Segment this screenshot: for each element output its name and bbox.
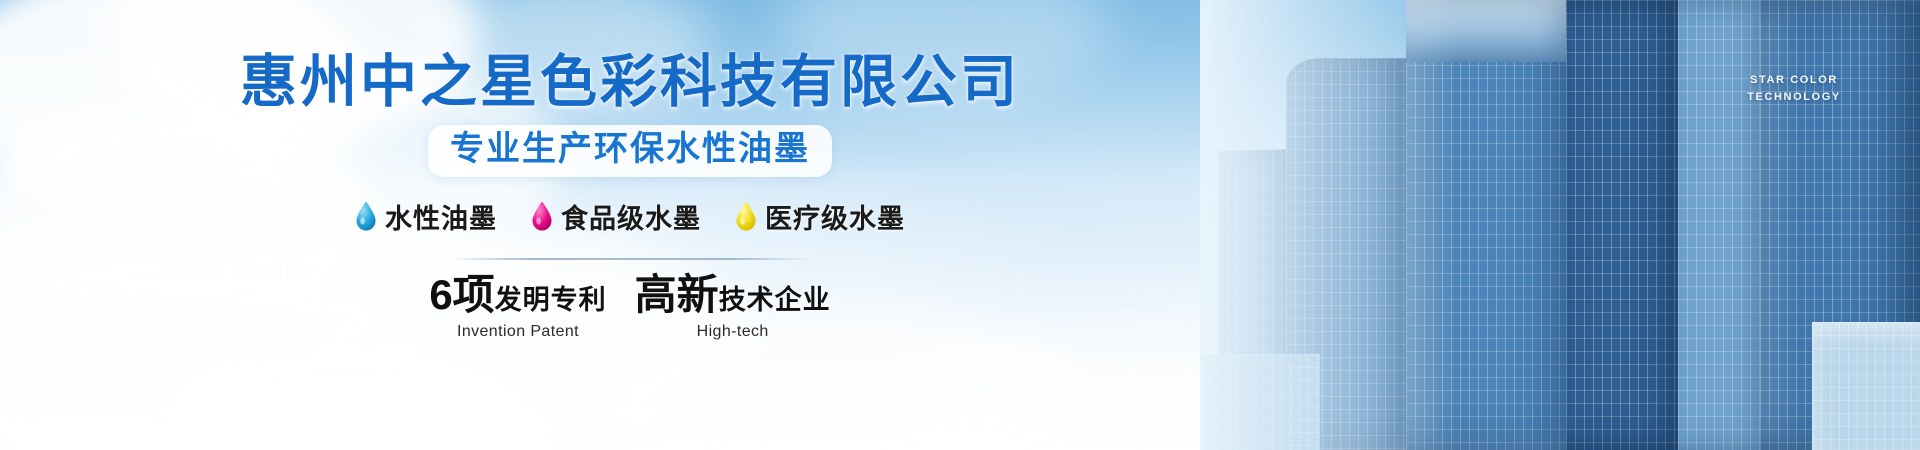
badge-main-text: 高新 技术企业 [635, 274, 831, 316]
product-tag-label: 医疗级水墨 [765, 197, 905, 236]
subtitle-pill: 专业生产环保水性油墨 [428, 125, 832, 177]
badge-count: 高新 [635, 274, 719, 316]
product-tag-water-based-ink[interactable]: 水性油墨 [355, 197, 497, 236]
badge-label: 技术企业 [719, 287, 831, 314]
badge-high-tech-enterprise: 高新 技术企业 High-tech [635, 274, 831, 341]
company-title: 惠州中之星色彩科技有限公司 [240, 54, 1020, 111]
badge-label: 发明专利 [495, 287, 607, 314]
building-podium [1812, 322, 1920, 450]
badge-english-label: Invention Patent [457, 323, 579, 341]
product-tag-list: 水性油墨 食品级水墨 [355, 197, 905, 236]
product-tag-medical-grade-ink[interactable]: 医疗级水墨 [735, 197, 905, 236]
product-tag-label: 食品级水墨 [561, 197, 701, 236]
corner-brand-line2: TECHNOLOGY [1734, 89, 1854, 106]
water-drop-icon [531, 201, 553, 231]
water-drop-icon [735, 201, 757, 231]
divider [449, 258, 811, 260]
banner-content: 惠州中之星色彩科技有限公司 专业生产环保水性油墨 水性油墨 [0, 0, 1260, 450]
badge-english-label: High-tech [697, 323, 769, 341]
badge-count: 6项 [429, 274, 494, 316]
product-tag-label: 水性油墨 [385, 197, 497, 236]
product-tag-food-grade-ink[interactable]: 食品级水墨 [531, 197, 701, 236]
badge-main-text: 6项 发明专利 [429, 274, 606, 316]
city-skyline-image [1200, 0, 1920, 450]
water-drop-icon [355, 201, 377, 231]
corner-brand-line1: STAR COLOR [1734, 72, 1854, 89]
subtitle-text: 专业生产环保水性油墨 [450, 132, 810, 168]
corner-brand: STAR COLOR TECHNOLOGY [1734, 72, 1854, 106]
credential-badge-list: 6项 发明专利 Invention Patent 高新 技术企业 High-te… [429, 274, 830, 341]
badge-invention-patent: 6项 发明专利 Invention Patent [429, 274, 606, 341]
building-tower [1566, 0, 1694, 450]
promo-banner: Star Color STAR COLOR TECHNOLOGY 惠州中之星色彩… [0, 0, 1920, 450]
